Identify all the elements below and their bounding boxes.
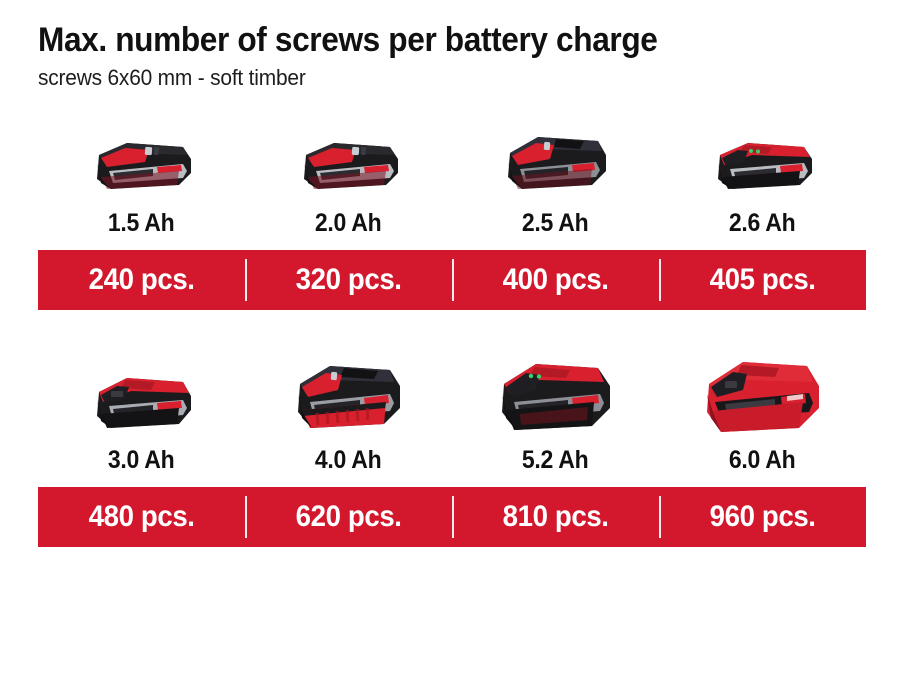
screw-count-value: 240 pcs.: [88, 263, 194, 297]
battery-large-black-svg: [286, 358, 412, 436]
battery-cell-2-0ah: 2.0 Ah: [245, 118, 452, 238]
battery-row-1: 1.5 Ah: [38, 118, 866, 310]
battery-pack-icon: [496, 121, 616, 199]
screw-count-value: 810 pcs.: [502, 500, 608, 534]
battery-capacity-label: 2.0 Ah: [315, 209, 382, 238]
screw-count-value: 405 pcs.: [709, 263, 815, 297]
battery-compact-red-svg: [704, 133, 822, 199]
battery-cell-2-5ah: 2.5 Ah: [452, 118, 659, 238]
infographic-page: Max. number of screws per battery charge…: [0, 0, 900, 675]
battery-large-red-svg: [490, 356, 622, 436]
screw-count-value: 960 pcs.: [709, 500, 815, 534]
battery-cell-3-0ah: 3.0 Ah: [38, 355, 245, 475]
result-cell: 960 pcs.: [659, 487, 866, 547]
battery-image-grid-1: 1.5 Ah: [38, 118, 866, 238]
battery-compact-red-svg: [83, 368, 201, 436]
battery-capacity-label: 2.5 Ah: [522, 209, 589, 238]
screw-count-value: 480 pcs.: [88, 500, 194, 534]
result-banner-row-1: 240 pcs. 320 pcs. 400 pcs. 405 pcs.: [38, 250, 866, 310]
battery-cell-5-2ah: 5.2 Ah: [452, 355, 659, 475]
screw-count-value: 620 pcs.: [295, 500, 401, 534]
battery-compact-tall-svg: [496, 129, 616, 199]
battery-row-2: 3.0 Ah: [38, 355, 866, 547]
battery-cell-6-0ah: 6.0 Ah: [659, 355, 866, 475]
battery-pack-icon: [286, 358, 412, 436]
result-cell: 240 pcs.: [38, 250, 245, 310]
battery-compact-black-svg: [83, 133, 201, 199]
battery-pack-icon: [290, 121, 408, 199]
battery-pack-icon: [490, 358, 622, 436]
battery-large-red-body-svg: [695, 354, 831, 436]
battery-capacity-label: 4.0 Ah: [315, 446, 382, 475]
battery-pack-icon: [83, 121, 201, 199]
battery-pack-icon: [83, 358, 201, 436]
battery-capacity-label: 2.6 Ah: [729, 209, 796, 238]
battery-capacity-label: 3.0 Ah: [108, 446, 175, 475]
result-cell: 810 pcs.: [452, 487, 659, 547]
battery-capacity-label: 5.2 Ah: [522, 446, 589, 475]
page-subtitle: screws 6x60 mm - soft timber: [38, 65, 827, 91]
battery-pack-icon: [695, 358, 831, 436]
screw-count-value: 400 pcs.: [502, 263, 608, 297]
result-cell: 405 pcs.: [659, 250, 866, 310]
page-title: Max. number of screws per battery charge: [38, 22, 810, 59]
battery-cell-2-6ah: 2.6 Ah: [659, 118, 866, 238]
battery-cell-4-0ah: 4.0 Ah: [245, 355, 452, 475]
result-cell: 620 pcs.: [245, 487, 452, 547]
result-cell: 320 pcs.: [245, 250, 452, 310]
battery-capacity-label: 1.5 Ah: [108, 209, 175, 238]
battery-compact-black-svg: [290, 133, 408, 199]
result-cell: 480 pcs.: [38, 487, 245, 547]
header: Max. number of screws per battery charge…: [38, 22, 868, 91]
battery-pack-icon: [704, 121, 822, 199]
result-banner-row-2: 480 pcs. 620 pcs. 810 pcs. 960 pcs.: [38, 487, 866, 547]
result-cell: 400 pcs.: [452, 250, 659, 310]
battery-cell-1-5ah: 1.5 Ah: [38, 118, 245, 238]
battery-image-grid-2: 3.0 Ah: [38, 355, 866, 475]
battery-capacity-label: 6.0 Ah: [729, 446, 796, 475]
screw-count-value: 320 pcs.: [295, 263, 401, 297]
